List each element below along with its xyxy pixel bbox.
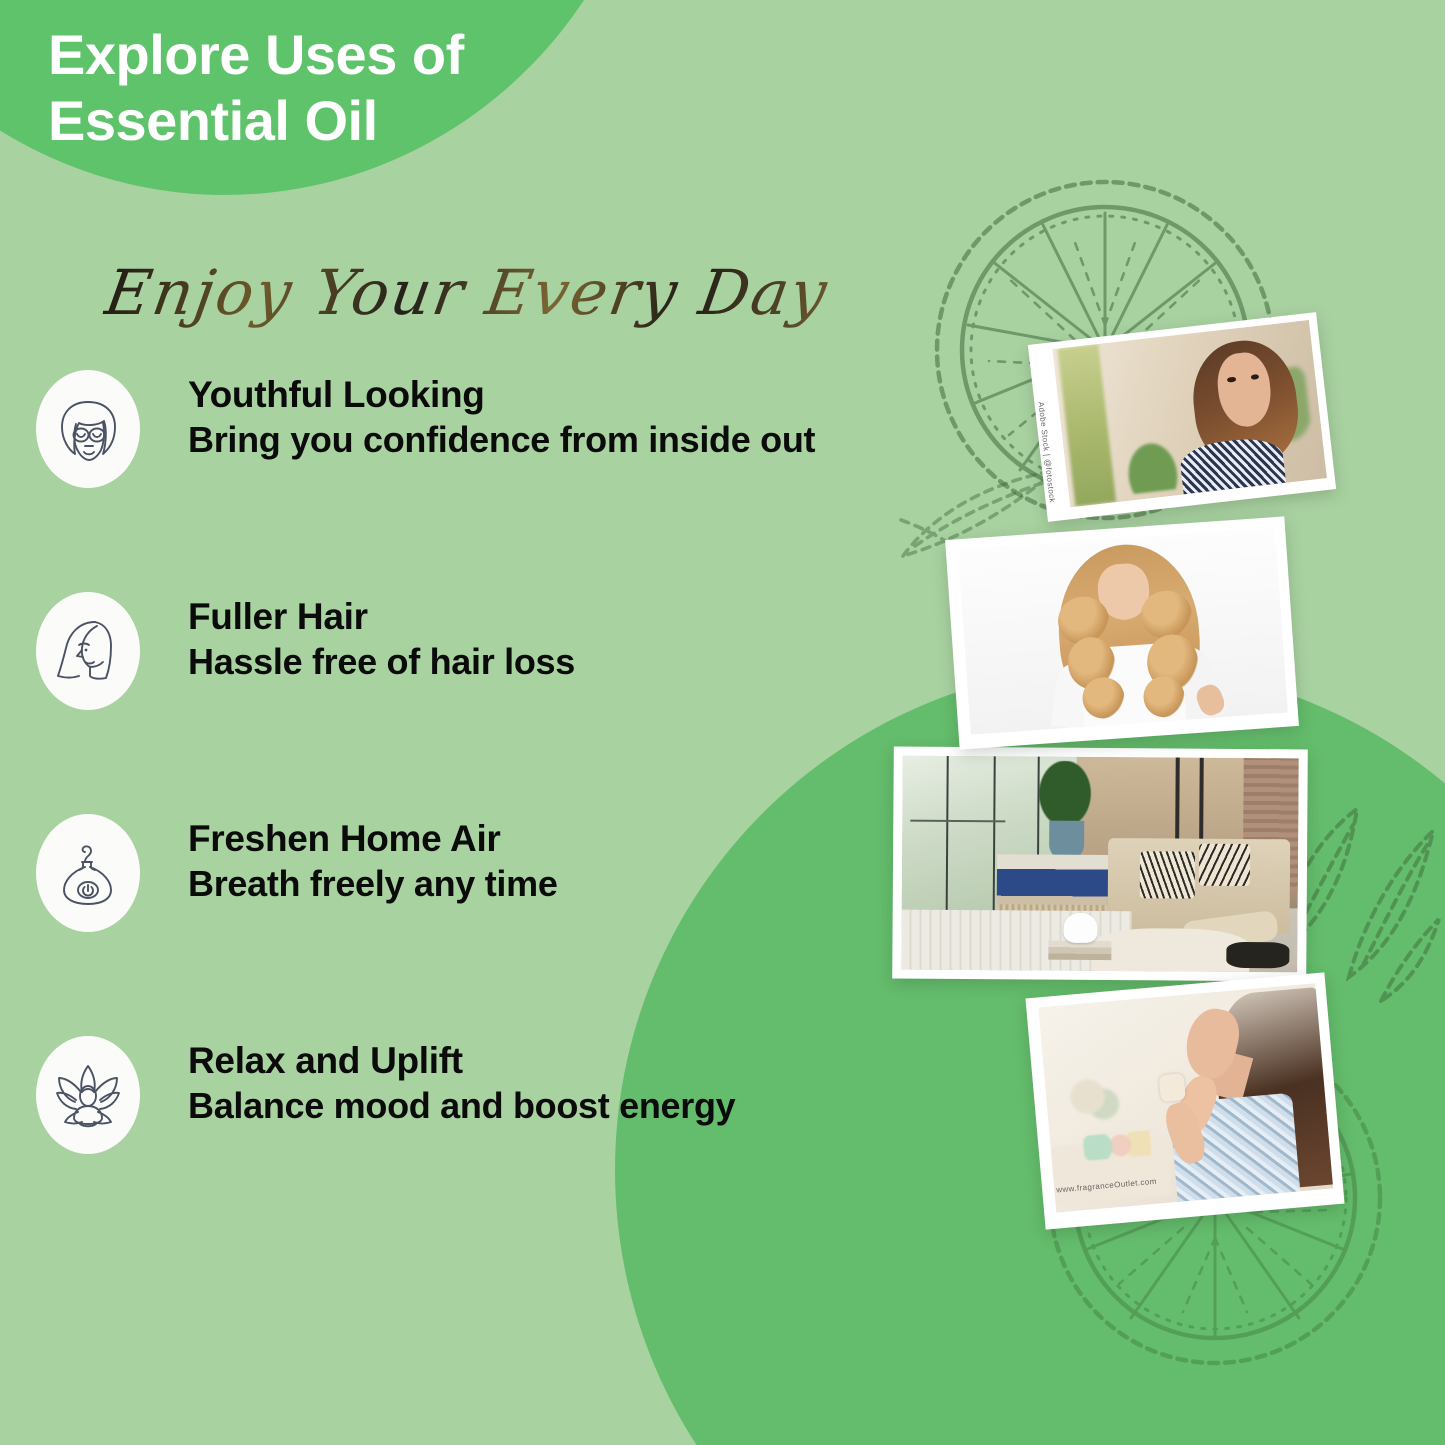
feature-item-relax-and-uplift: Relax and Uplift Balance mood and boost …: [0, 1026, 1040, 1154]
feature-title: Youthful Looking: [188, 374, 815, 415]
photo-woman-smiling: Adobe Stock | @fotostock Smiling woman w…: [1028, 312, 1336, 522]
face-mask-icon: [36, 370, 140, 488]
feature-text: Freshen Home Air Breath freely any time: [188, 804, 558, 906]
photo-hair-model: Woman with full wavy blonde hair in a wh…: [945, 516, 1299, 749]
lotus-meditation-icon: [36, 1036, 140, 1154]
feature-item-fuller-hair: Fuller Hair Hassle free of hair loss: [0, 582, 1040, 710]
page-title: Explore Uses of Essential Oil: [48, 22, 464, 153]
feature-text: Relax and Uplift Balance mood and boost …: [188, 1026, 735, 1128]
tagline: Enjoy Your Every Day: [100, 256, 833, 329]
feature-text: Youthful Looking Bring you confidence fr…: [188, 360, 815, 462]
photo-perfume-application: www.fragranceOutlet.com Woman applying p…: [1025, 972, 1344, 1229]
feature-item-freshen-home-air: Freshen Home Air Breath freely any time: [0, 804, 1040, 932]
feature-title: Relax and Uplift: [188, 1040, 735, 1081]
feature-subtitle: Bring you confidence from inside out: [188, 419, 815, 461]
feature-subtitle: Hassle free of hair loss: [188, 641, 575, 683]
feature-title: Fuller Hair: [188, 596, 575, 637]
feature-item-youthful-looking: Youthful Looking Bring you confidence fr…: [0, 360, 1040, 488]
feature-list: Youthful Looking Bring you confidence fr…: [0, 360, 1040, 1248]
photo-living-room: Boho living room with diffuser, plant, p…: [892, 747, 1308, 982]
long-hair-profile-icon: [36, 592, 140, 710]
poster-canvas: Explore Uses of Essential Oil Enjoy Your…: [0, 0, 1445, 1445]
feature-text: Fuller Hair Hassle free of hair loss: [188, 582, 575, 684]
feature-title: Freshen Home Air: [188, 818, 558, 859]
feature-subtitle: Breath freely any time: [188, 863, 558, 905]
feature-subtitle: Balance mood and boost energy: [188, 1085, 735, 1127]
aroma-diffuser-icon: [36, 814, 140, 932]
